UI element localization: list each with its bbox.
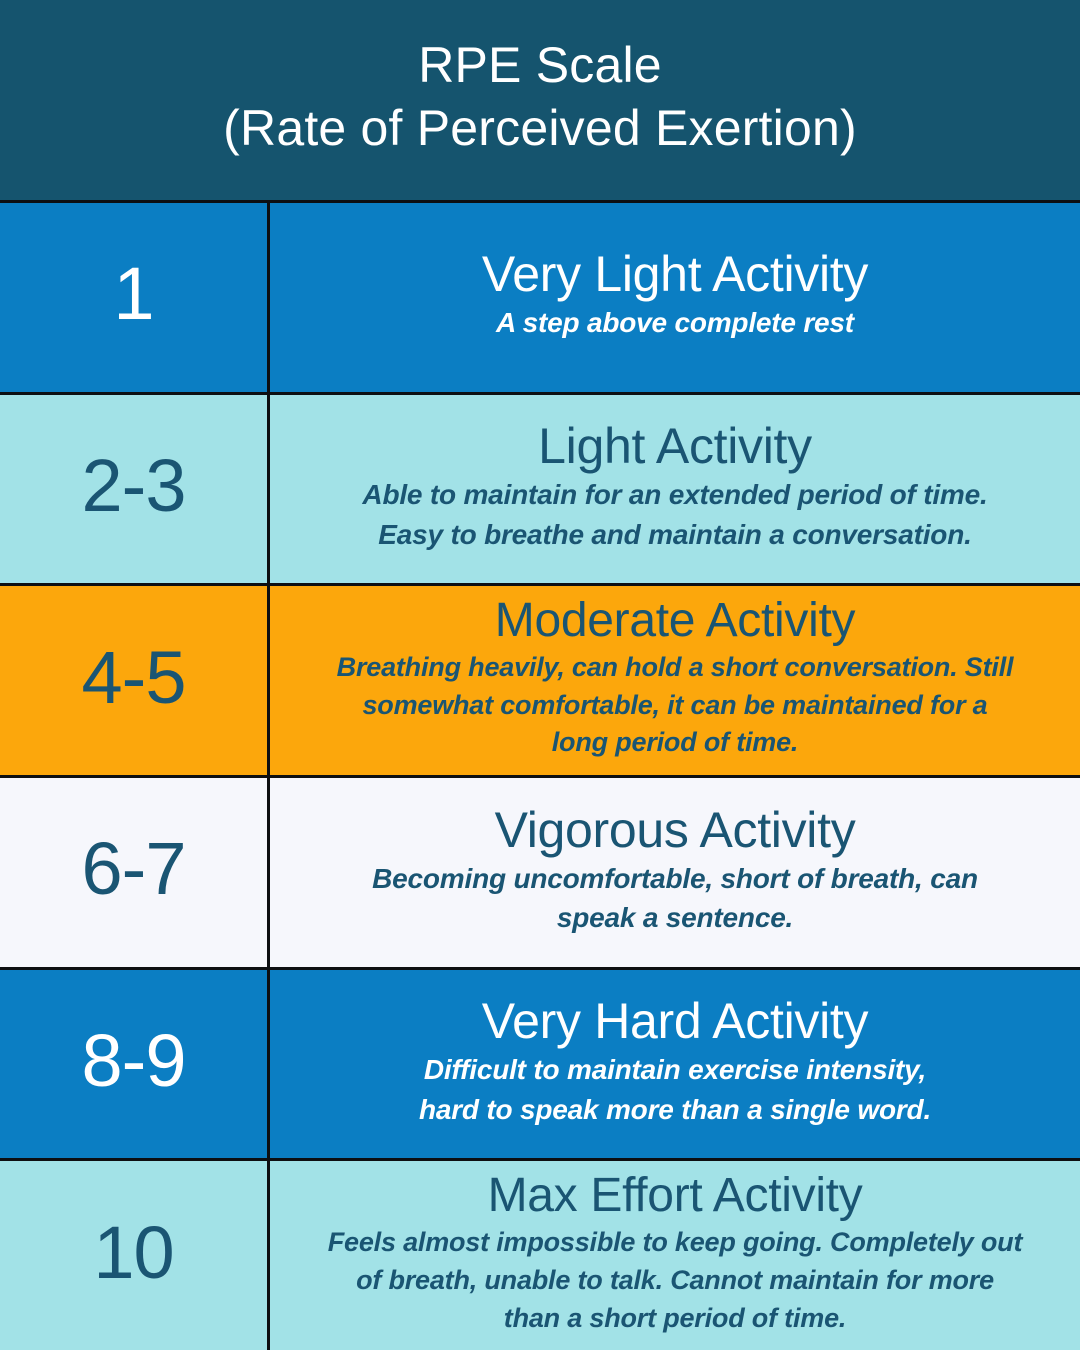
activity-description: Breathing heavily, can hold a short conv… [337,649,1014,762]
activity-title: Moderate Activity [495,595,855,647]
activity-title: Light Activity [538,419,812,473]
description-cell: Very Light Activity A step above complet… [270,203,1080,392]
description-cell: Vigorous Activity Becoming uncomfortable… [270,778,1080,967]
description-line: long period of time. [337,724,1014,762]
score-value: 6-7 [82,832,186,912]
score-value: 10 [93,1216,173,1296]
infographic-header: RPE Scale (Rate of Perceived Exertion) [0,0,1080,200]
score-cell: 2-3 [0,395,270,584]
activity-description: Able to maintain for an extended period … [362,475,987,555]
activity-description: Feels almost impossible to keep going. C… [328,1224,1023,1337]
description-line: hard to speak more than a single word. [419,1090,931,1130]
table-row: 8-9 Very Hard Activity Difficult to main… [0,970,1080,1162]
score-value: 4-5 [82,641,186,721]
description-line: than a short period of time. [328,1300,1023,1338]
description-line: Feels almost impossible to keep going. C… [328,1224,1023,1262]
page-title: RPE Scale [418,34,662,97]
score-cell: 8-9 [0,970,270,1159]
table-row: 4-5 Moderate Activity Breathing heavily,… [0,586,1080,778]
description-line: Difficult to maintain exercise intensity… [419,1050,931,1090]
description-line: speak a sentence. [372,898,978,938]
description-line: Easy to breathe and maintain a conversat… [362,515,987,555]
activity-title: Very Light Activity [482,247,868,301]
score-value: 2-3 [82,449,186,529]
rpe-scale-infographic: RPE Scale (Rate of Perceived Exertion) 1… [0,0,1080,1350]
rpe-rows-container: 1 Very Light Activity A step above compl… [0,200,1080,1350]
table-row: 2-3 Light Activity Able to maintain for … [0,395,1080,587]
description-cell: Moderate Activity Breathing heavily, can… [270,586,1080,775]
page-subtitle: (Rate of Perceived Exertion) [223,97,857,160]
score-value: 8-9 [82,1024,186,1104]
description-cell: Light Activity Able to maintain for an e… [270,395,1080,584]
description-cell: Very Hard Activity Difficult to maintain… [270,970,1080,1159]
description-line: A step above complete rest [496,303,854,343]
score-cell: 6-7 [0,778,270,967]
score-cell: 4-5 [0,586,270,775]
score-cell: 10 [0,1161,270,1350]
description-line: Becoming uncomfortable, short of breath,… [372,859,978,899]
table-row: 1 Very Light Activity A step above compl… [0,203,1080,395]
activity-description: A step above complete rest [496,303,854,343]
description-line: Breathing heavily, can hold a short conv… [337,649,1014,687]
score-value: 1 [113,257,153,337]
table-row: 6-7 Vigorous Activity Becoming uncomfort… [0,778,1080,970]
description-line: somewhat comfortable, it can be maintain… [337,687,1014,725]
activity-title: Max Effort Activity [488,1170,863,1222]
table-row: 10 Max Effort Activity Feels almost impo… [0,1161,1080,1350]
activity-description: Becoming uncomfortable, short of breath,… [372,859,978,939]
description-line: Able to maintain for an extended period … [362,475,987,515]
description-cell: Max Effort Activity Feels almost impossi… [270,1161,1080,1350]
activity-title: Vigorous Activity [495,803,856,857]
activity-description: Difficult to maintain exercise intensity… [419,1050,931,1130]
description-line: of breath, unable to talk. Cannot mainta… [328,1262,1023,1300]
activity-title: Very Hard Activity [482,994,868,1048]
score-cell: 1 [0,203,270,392]
